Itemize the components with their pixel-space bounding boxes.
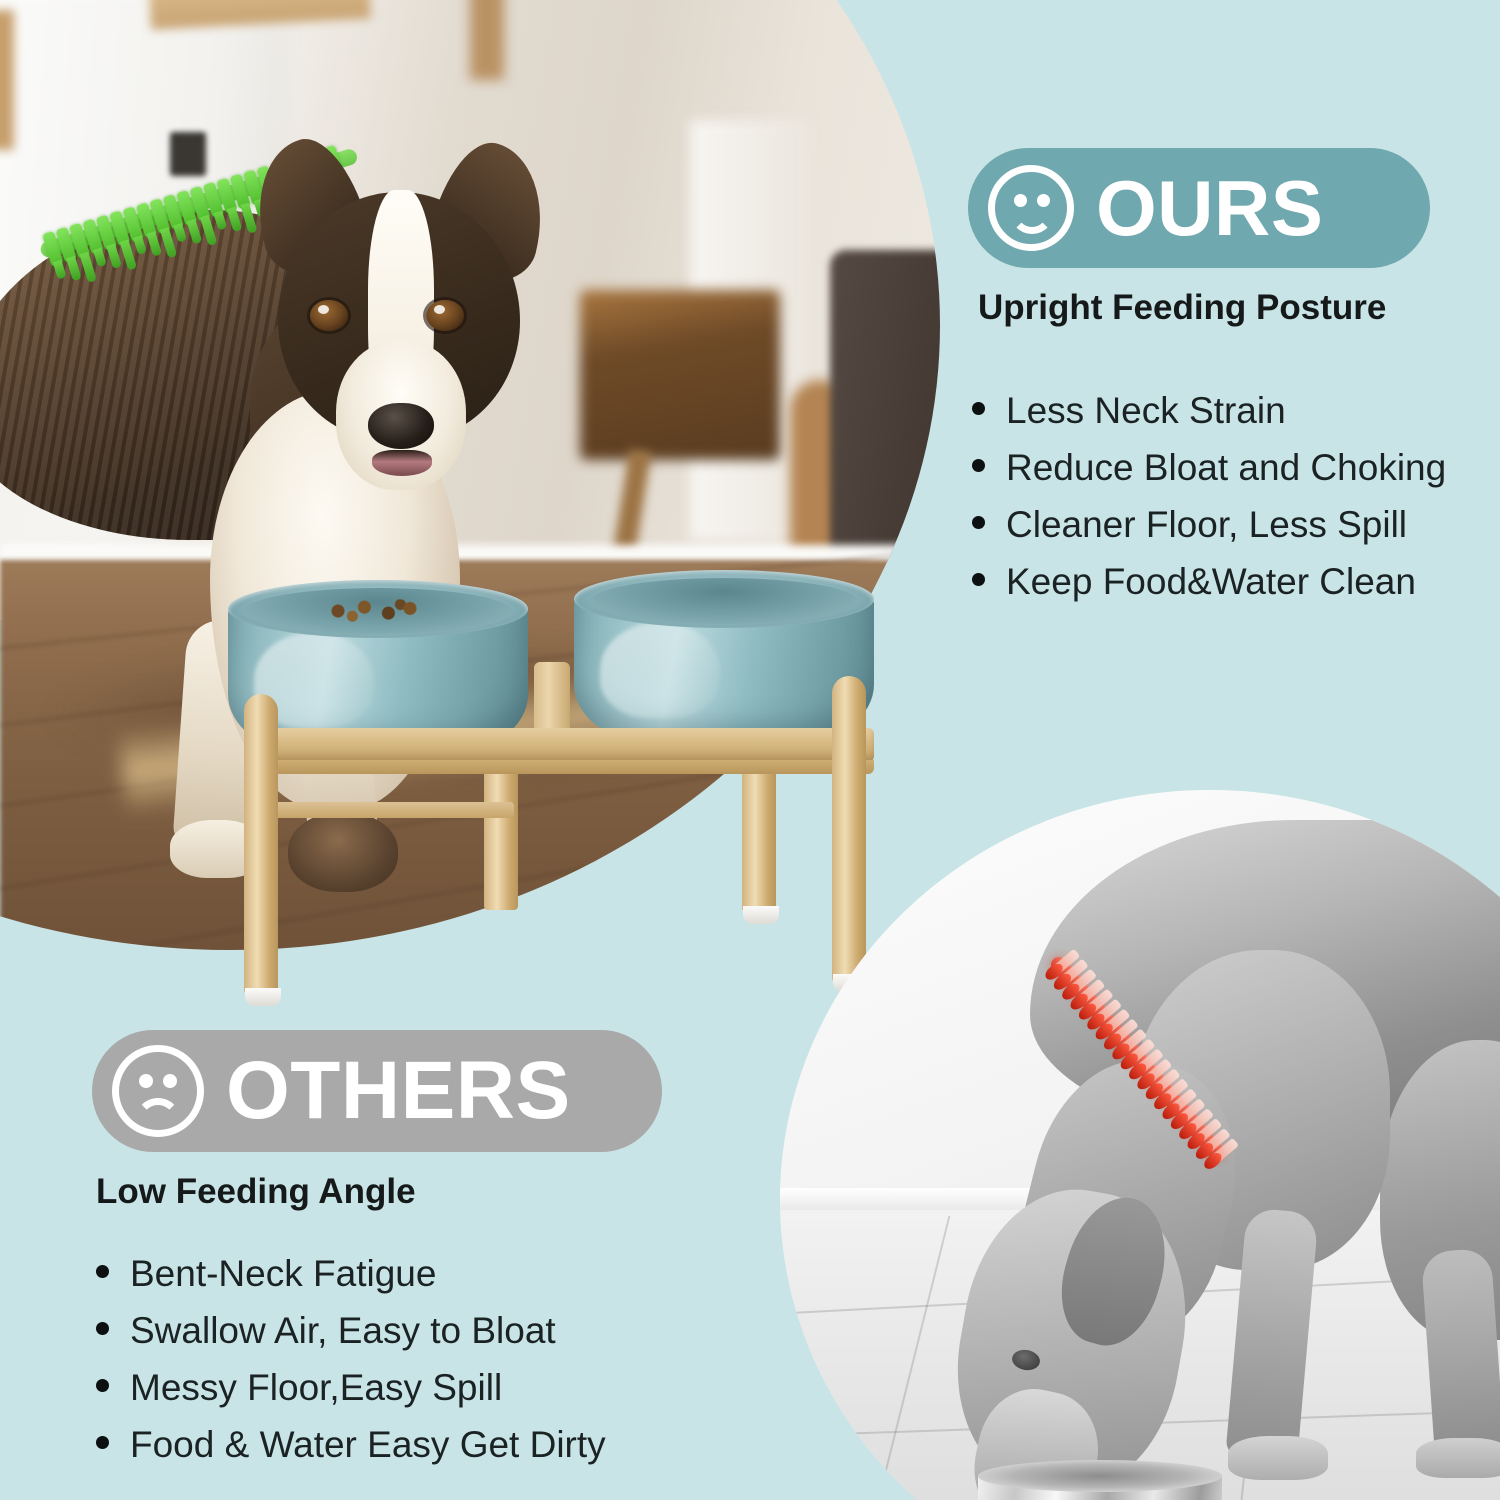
others-drawback-list: Bent-Neck Fatigue Swallow Air, Easy to B… <box>96 1245 606 1473</box>
smiley-face-icon <box>988 165 1074 251</box>
bullet-dot-icon <box>96 1436 109 1449</box>
vertebra-spike <box>173 223 187 243</box>
dog-nose <box>368 403 434 449</box>
list-item: Keep Food&Water Clean <box>972 553 1446 610</box>
list-item-label: Food & Water Easy Get Dirty <box>130 1416 606 1473</box>
kibble-food <box>314 598 434 624</box>
list-item: Cleaner Floor, Less Spill <box>972 496 1446 553</box>
vertebra-spike <box>106 244 122 270</box>
vertebra-spike <box>53 260 67 280</box>
dog-eye-left <box>310 300 348 331</box>
vertebra-spike <box>133 235 147 255</box>
list-item-label: Messy Floor,Easy Spill <box>130 1359 502 1416</box>
bullet-dot-icon <box>972 516 985 529</box>
stand-foot-back-right <box>743 906 779 924</box>
stainless-steel-floor-bowl <box>950 1462 1250 1500</box>
bowl-interior <box>590 578 858 624</box>
dog-bending-to-floor-bowl-photo <box>780 790 1500 1500</box>
dog-head <box>250 150 550 480</box>
stand-lower-rail <box>250 760 874 774</box>
bullet-dot-icon <box>96 1322 109 1335</box>
list-item: Messy Floor,Easy Spill <box>96 1359 606 1416</box>
others-subheading: Low Feeding Angle <box>96 1172 416 1212</box>
list-item: Swallow Air, Easy to Bloat <box>96 1302 606 1359</box>
vertebra-spike <box>66 256 82 282</box>
list-item: Less Neck Strain <box>972 382 1446 439</box>
vertebra-spike <box>187 219 203 245</box>
ours-badge-label: OURS <box>1096 169 1323 247</box>
list-item-label: Cleaner Floor, Less Spill <box>1006 496 1407 553</box>
steel-bowl-rim <box>978 1460 1222 1492</box>
bullet-dot-icon <box>972 459 985 472</box>
list-item: Food & Water Easy Get Dirty <box>96 1416 606 1473</box>
infographic-canvas: OURS Upright Feeding Posture Less Neck S… <box>0 0 1500 1500</box>
stand-foot-front-left <box>245 988 281 1006</box>
stand-side-brace <box>244 802 514 818</box>
ours-benefit-list: Less Neck Strain Reduce Bloat and Chokin… <box>972 382 1446 610</box>
vertebra-spike <box>146 231 162 257</box>
sad-face-icon <box>112 1045 204 1137</box>
bullet-dot-icon <box>96 1379 109 1392</box>
list-item: Bent-Neck Fatigue <box>96 1245 606 1302</box>
dog-mouth <box>372 450 432 476</box>
list-item-label: Less Neck Strain <box>1006 382 1286 439</box>
vertebra-spike <box>93 248 107 268</box>
list-item: Reduce Bloat and Choking <box>972 439 1446 496</box>
bowl-gloss-highlight <box>600 622 720 718</box>
list-item-label: Keep Food&Water Clean <box>1006 553 1416 610</box>
grey-dog-hind-leg <box>1421 1248 1500 1462</box>
others-badge-label: OTHERS <box>226 1050 571 1132</box>
list-item-label: Bent-Neck Fatigue <box>130 1245 436 1302</box>
water-bowl <box>574 570 874 745</box>
others-badge: OTHERS <box>92 1030 662 1152</box>
vertebra-spike <box>213 211 227 231</box>
ours-badge: OURS <box>968 148 1430 268</box>
dog-eye-right <box>426 300 464 331</box>
stand-leg-front-left <box>244 694 278 994</box>
bullet-dot-icon <box>96 1265 109 1278</box>
list-item-label: Reduce Bloat and Choking <box>1006 439 1446 496</box>
vertebra-spike <box>227 207 243 233</box>
bullet-dot-icon <box>972 402 985 415</box>
stand-top-rail <box>250 728 874 762</box>
list-item-label: Swallow Air, Easy to Bloat <box>130 1302 556 1359</box>
grey-dog-hind-paw <box>1416 1438 1500 1478</box>
bullet-dot-icon <box>972 573 985 586</box>
ours-subheading: Upright Feeding Posture <box>978 288 1386 328</box>
